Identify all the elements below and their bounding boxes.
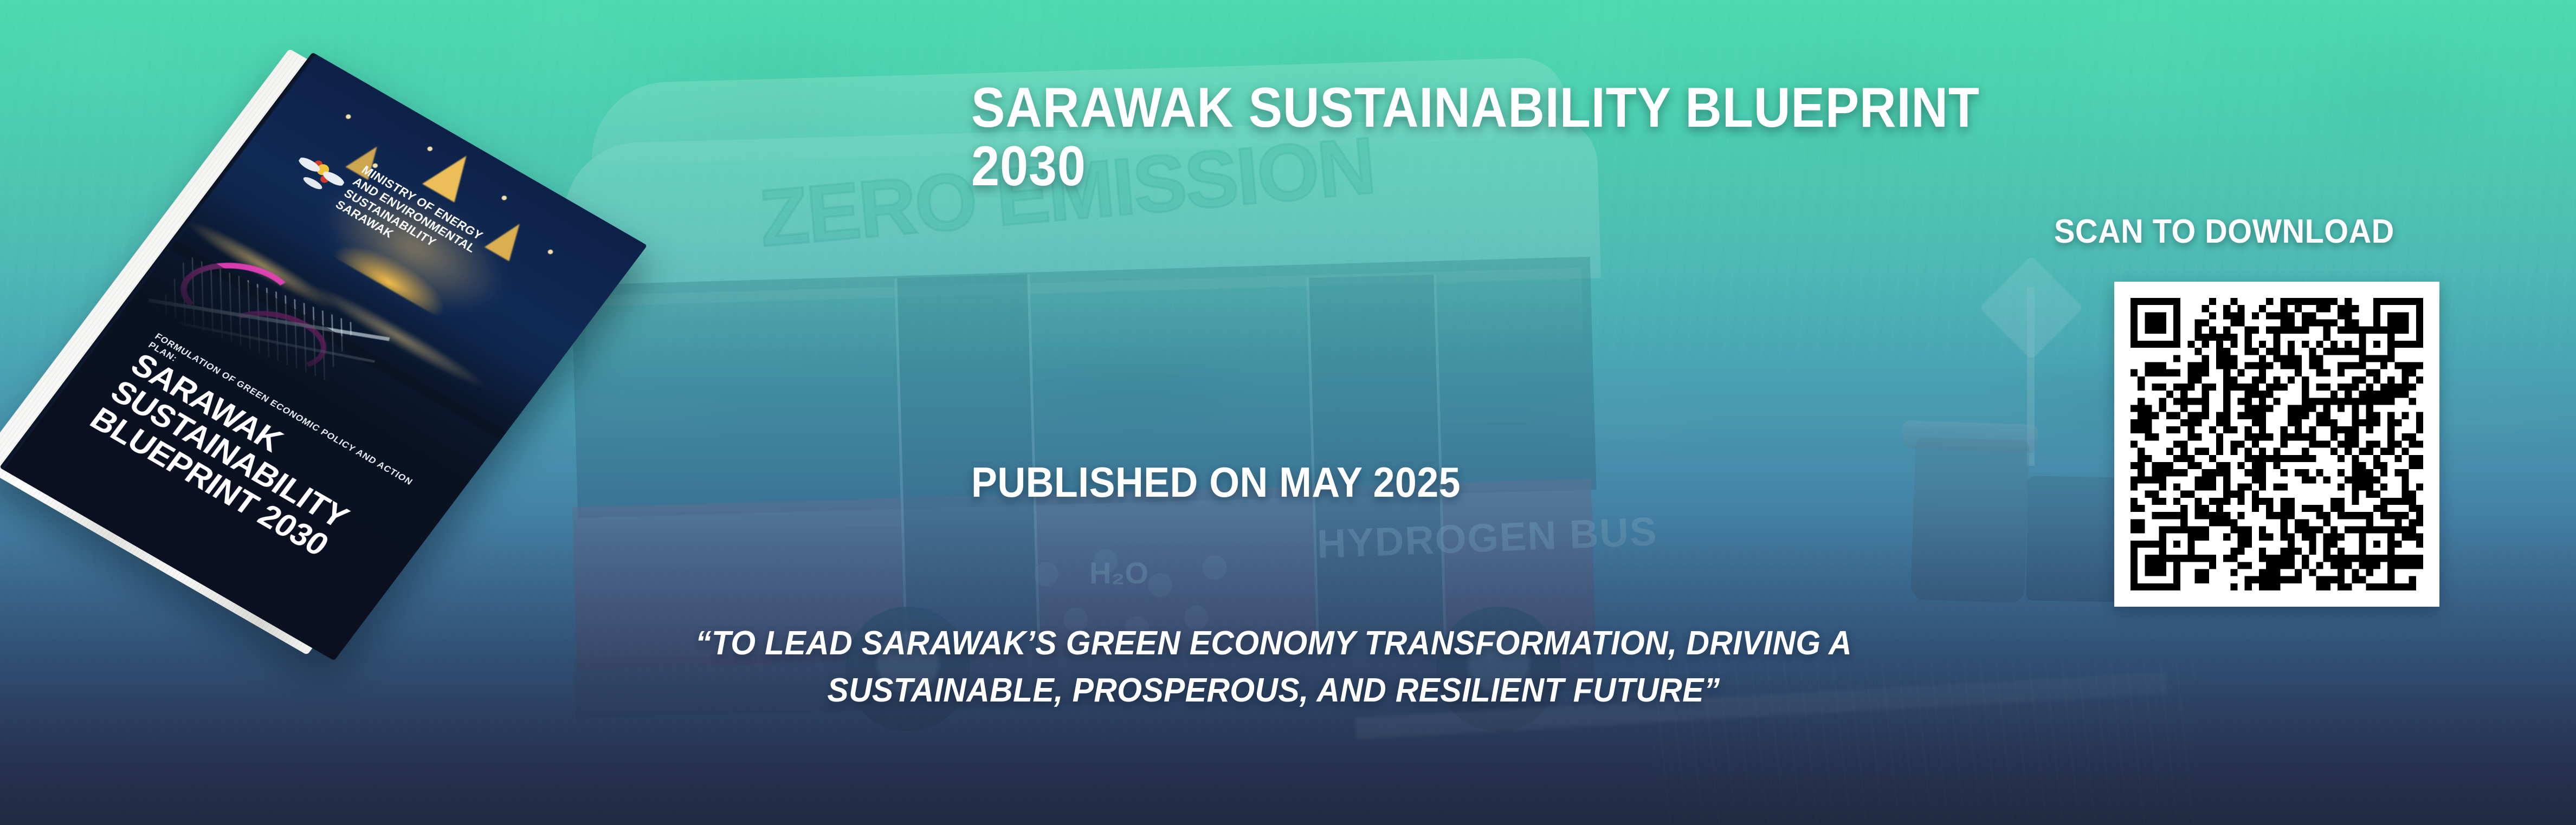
book-mockup: MINISTRY OF ENERGY AND ENVIRONMENTAL SUS… — [92, 65, 813, 677]
book-front-cover: MINISTRY OF ENERGY AND ENVIRONMENTAL SUS… — [3, 54, 648, 660]
vision-quote-line-1: “TO LEAD SARAWAK’S GREEN ECONOMY TRANSFO… — [398, 620, 2149, 667]
publish-date-label: PUBLISHED ON MAY 2025 — [971, 458, 1769, 507]
vision-quote-line-2: SUSTAINABLE, PROSPEROUS, AND RESILIENT F… — [398, 667, 2149, 714]
qr-code-icon[interactable] — [2130, 298, 2423, 590]
page-title-line-1: SARAWAK SUSTAINABILITY BLUEPRINT — [971, 79, 2200, 137]
scan-to-download-label: SCAN TO DOWNLOAD — [2054, 212, 2394, 251]
vision-quote: “TO LEAD SARAWAK’S GREEN ECONOMY TRANSFO… — [398, 620, 2149, 714]
page-title: SARAWAK SUSTAINABILITY BLUEPRINT 2030 — [971, 79, 2200, 196]
sarawak-sustainability-blueprint-banner: ZERO EMISSION HYDROGEN BUS H₂O — [0, 0, 2576, 825]
page-title-line-2: 2030 — [971, 137, 2200, 196]
book-3d: MINISTRY OF ENERGY AND ENVIRONMENTAL SUS… — [3, 54, 648, 660]
qr-code-container[interactable] — [2114, 282, 2439, 607]
